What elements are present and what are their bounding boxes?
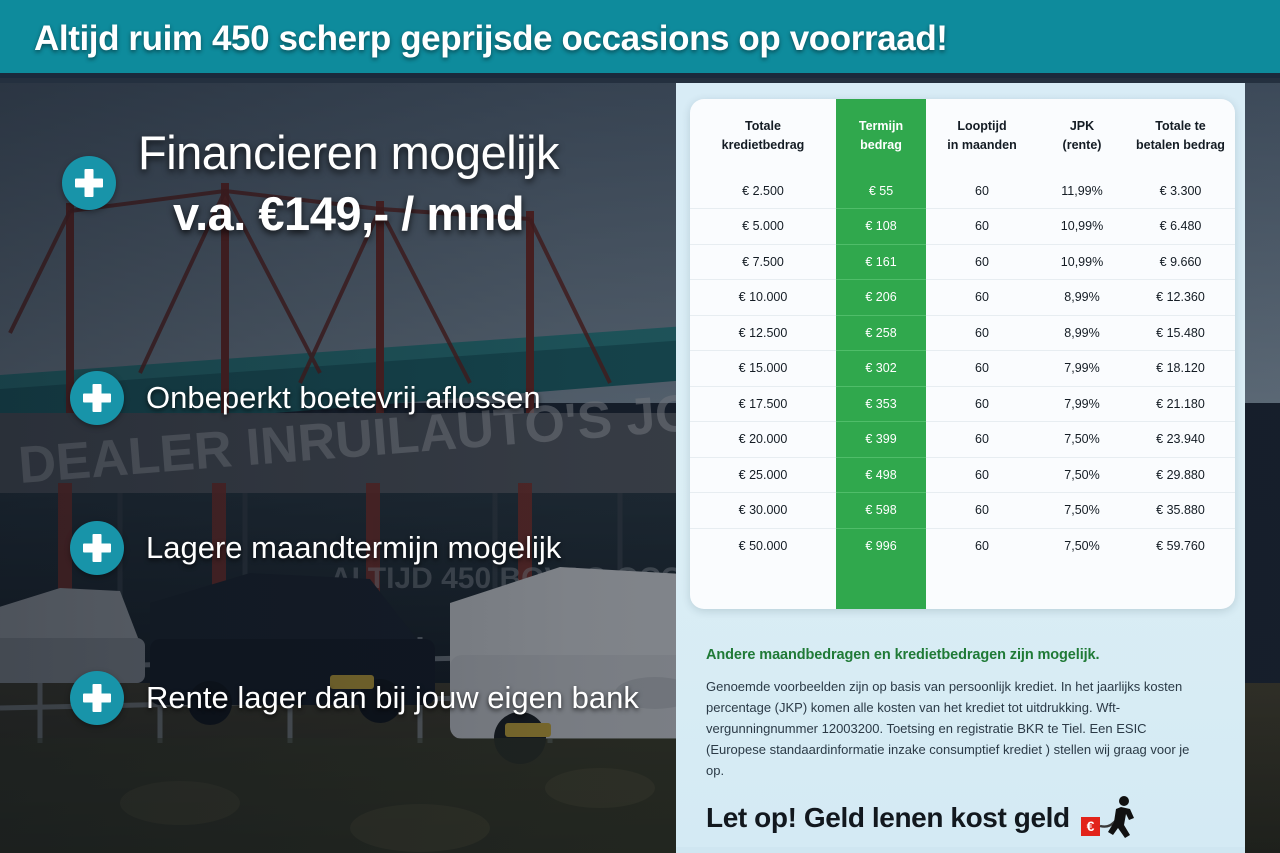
table-row: € 20.000 € 399 60 7,50% € 23.940 [690, 422, 1235, 458]
cell-krediet: € 50.000 [690, 528, 836, 564]
cell-totaal: € 9.660 [1126, 244, 1235, 280]
cell-krediet: € 20.000 [690, 422, 836, 458]
feature-label: Rente lager dan bij jouw eigen bank [146, 680, 639, 716]
warning-text: Let op! Geld lenen kost geld [706, 802, 1070, 834]
cell-jkp: 8,99% [1038, 280, 1126, 316]
cell-looptijd: 60 [926, 209, 1038, 245]
column-header-looptijd: Looptijd in maanden [926, 99, 1038, 173]
top-banner: Altijd ruim 450 scherp geprijsde occasio… [0, 0, 1280, 78]
cell-krediet: € 7.500 [690, 244, 836, 280]
feature-list: Financieren mogelijk v.a. €149,- / mnd O… [0, 83, 680, 853]
cell-jkp: 7,99% [1038, 386, 1126, 422]
header-line-1: Looptijd [957, 119, 1006, 133]
table-row: € 12.500 € 258 60 8,99% € 15.480 [690, 315, 1235, 351]
cell-jkp: 7,50% [1038, 422, 1126, 458]
cell-termijn: € 55 [836, 173, 926, 209]
cell-jkp: 7,50% [1038, 457, 1126, 493]
plus-icon [70, 671, 124, 725]
credit-warning: Let op! Geld lenen kost geld € [706, 795, 1216, 841]
cell-krediet: € 5.000 [690, 209, 836, 245]
cell-looptijd: 60 [926, 422, 1038, 458]
cell-totaal: € 12.360 [1126, 280, 1235, 316]
cell-looptijd: 60 [926, 244, 1038, 280]
cell-jkp: 10,99% [1038, 244, 1126, 280]
cell-looptijd: 60 [926, 528, 1038, 564]
rates-panel: Totale kredietbedrag Termijn bedrag Loop… [676, 83, 1245, 853]
table-row: € 10.000 € 206 60 8,99% € 12.360 [690, 280, 1235, 316]
header-line-2: bedrag [860, 138, 902, 152]
rates-table: Totale kredietbedrag Termijn bedrag Loop… [690, 99, 1235, 564]
cell-looptijd: 60 [926, 351, 1038, 387]
table-header-row: Totale kredietbedrag Termijn bedrag Loop… [690, 99, 1235, 173]
cell-termijn: € 996 [836, 528, 926, 564]
cell-totaal: € 3.300 [1126, 173, 1235, 209]
header-line-2: kredietbedrag [722, 138, 805, 152]
table-row: € 15.000 € 302 60 7,99% € 18.120 [690, 351, 1235, 387]
rates-table-body: € 2.500 € 55 60 11,99% € 3.300 € 5.000 €… [690, 173, 1235, 564]
cell-termijn: € 161 [836, 244, 926, 280]
svg-text:€: € [1086, 818, 1094, 834]
cell-termijn: € 598 [836, 493, 926, 529]
cell-totaal: € 6.480 [1126, 209, 1235, 245]
cell-looptijd: 60 [926, 386, 1038, 422]
cell-totaal: € 18.120 [1126, 351, 1235, 387]
cell-looptijd: 60 [926, 173, 1038, 209]
cell-looptijd: 60 [926, 280, 1038, 316]
feature-label: Lagere maandtermijn mogelijk [146, 530, 561, 566]
cell-krediet: € 12.500 [690, 315, 836, 351]
banner-underline [0, 73, 1280, 78]
feature-label: Onbeperkt boetevrij aflossen [146, 380, 541, 416]
cell-krediet: € 17.500 [690, 386, 836, 422]
plus-icon [70, 521, 124, 575]
cell-jkp: 8,99% [1038, 315, 1126, 351]
table-row: € 2.500 € 55 60 11,99% € 3.300 [690, 173, 1235, 209]
column-header-totaal: Totale te betalen bedrag [1126, 99, 1235, 173]
column-header-jkp: JPK (rente) [1038, 99, 1126, 173]
cell-looptijd: 60 [926, 315, 1038, 351]
cell-jkp: 7,50% [1038, 493, 1126, 529]
cell-krediet: € 10.000 [690, 280, 836, 316]
cell-termijn: € 206 [836, 280, 926, 316]
table-row: € 50.000 € 996 60 7,50% € 59.760 [690, 528, 1235, 564]
cell-krediet: € 15.000 [690, 351, 836, 387]
plus-icon [70, 371, 124, 425]
cell-looptijd: 60 [926, 493, 1038, 529]
feature-item-aflossen: Onbeperkt boetevrij aflossen [70, 371, 541, 425]
cell-termijn: € 108 [836, 209, 926, 245]
feature-item-financing: Financieren mogelijk v.a. €149,- / mnd [62, 125, 559, 241]
table-row: € 30.000 € 598 60 7,50% € 35.880 [690, 493, 1235, 529]
headline-line-1: Financieren mogelijk [138, 125, 559, 180]
header-line-1: Totale [745, 119, 781, 133]
header-line-1: Termijn [859, 119, 903, 133]
cell-totaal: € 23.940 [1126, 422, 1235, 458]
table-row: € 5.000 € 108 60 10,99% € 6.480 [690, 209, 1235, 245]
disclaimer-title: Andere maandbedragen en kredietbedragen … [706, 647, 1206, 663]
plus-icon [62, 156, 116, 210]
cell-totaal: € 29.880 [1126, 457, 1235, 493]
column-header-krediet: Totale kredietbedrag [690, 99, 836, 173]
cell-termijn: € 498 [836, 457, 926, 493]
column-header-termijn: Termijn bedrag [836, 99, 926, 173]
cell-termijn: € 399 [836, 422, 926, 458]
afm-running-man-icon: € [1080, 795, 1142, 841]
feature-item-rente: Rente lager dan bij jouw eigen bank [70, 671, 639, 725]
header-line-1: JPK [1070, 119, 1094, 133]
cell-totaal: € 35.880 [1126, 493, 1235, 529]
feature-item-maandtermijn: Lagere maandtermijn mogelijk [70, 521, 561, 575]
cell-totaal: € 59.760 [1126, 528, 1235, 564]
cell-krediet: € 30.000 [690, 493, 836, 529]
cell-totaal: € 21.180 [1126, 386, 1235, 422]
cell-jkp: 11,99% [1038, 173, 1126, 209]
disclaimer-body: Genoemde voorbeelden zijn op basis van p… [706, 676, 1206, 781]
cell-krediet: € 2.500 [690, 173, 836, 209]
cell-jkp: 7,50% [1038, 528, 1126, 564]
header-line-1: Totale te [1155, 119, 1205, 133]
panel-bottom-strip [676, 847, 1245, 853]
rates-table-card: Totale kredietbedrag Termijn bedrag Loop… [690, 99, 1235, 609]
banner-headline: Altijd ruim 450 scherp geprijsde occasio… [34, 19, 948, 59]
table-row: € 17.500 € 353 60 7,99% € 21.180 [690, 386, 1235, 422]
headline-line-2: v.a. €149,- / mnd [138, 186, 559, 241]
cell-jkp: 10,99% [1038, 209, 1126, 245]
cell-termijn: € 353 [836, 386, 926, 422]
cell-looptijd: 60 [926, 457, 1038, 493]
header-line-2: betalen bedrag [1136, 138, 1225, 152]
table-row: € 25.000 € 498 60 7,50% € 29.880 [690, 457, 1235, 493]
advertisement-banner: Altijd ruim 450 scherp geprijsde occasio… [0, 0, 1280, 853]
table-row: € 7.500 € 161 60 10,99% € 9.660 [690, 244, 1235, 280]
cell-totaal: € 15.480 [1126, 315, 1235, 351]
disclaimer-block: Andere maandbedragen en kredietbedragen … [706, 647, 1206, 781]
cell-jkp: 7,99% [1038, 351, 1126, 387]
cell-termijn: € 302 [836, 351, 926, 387]
cell-termijn: € 258 [836, 315, 926, 351]
header-line-2: in maanden [947, 138, 1016, 152]
cell-krediet: € 25.000 [690, 457, 836, 493]
header-line-2: (rente) [1063, 138, 1102, 152]
